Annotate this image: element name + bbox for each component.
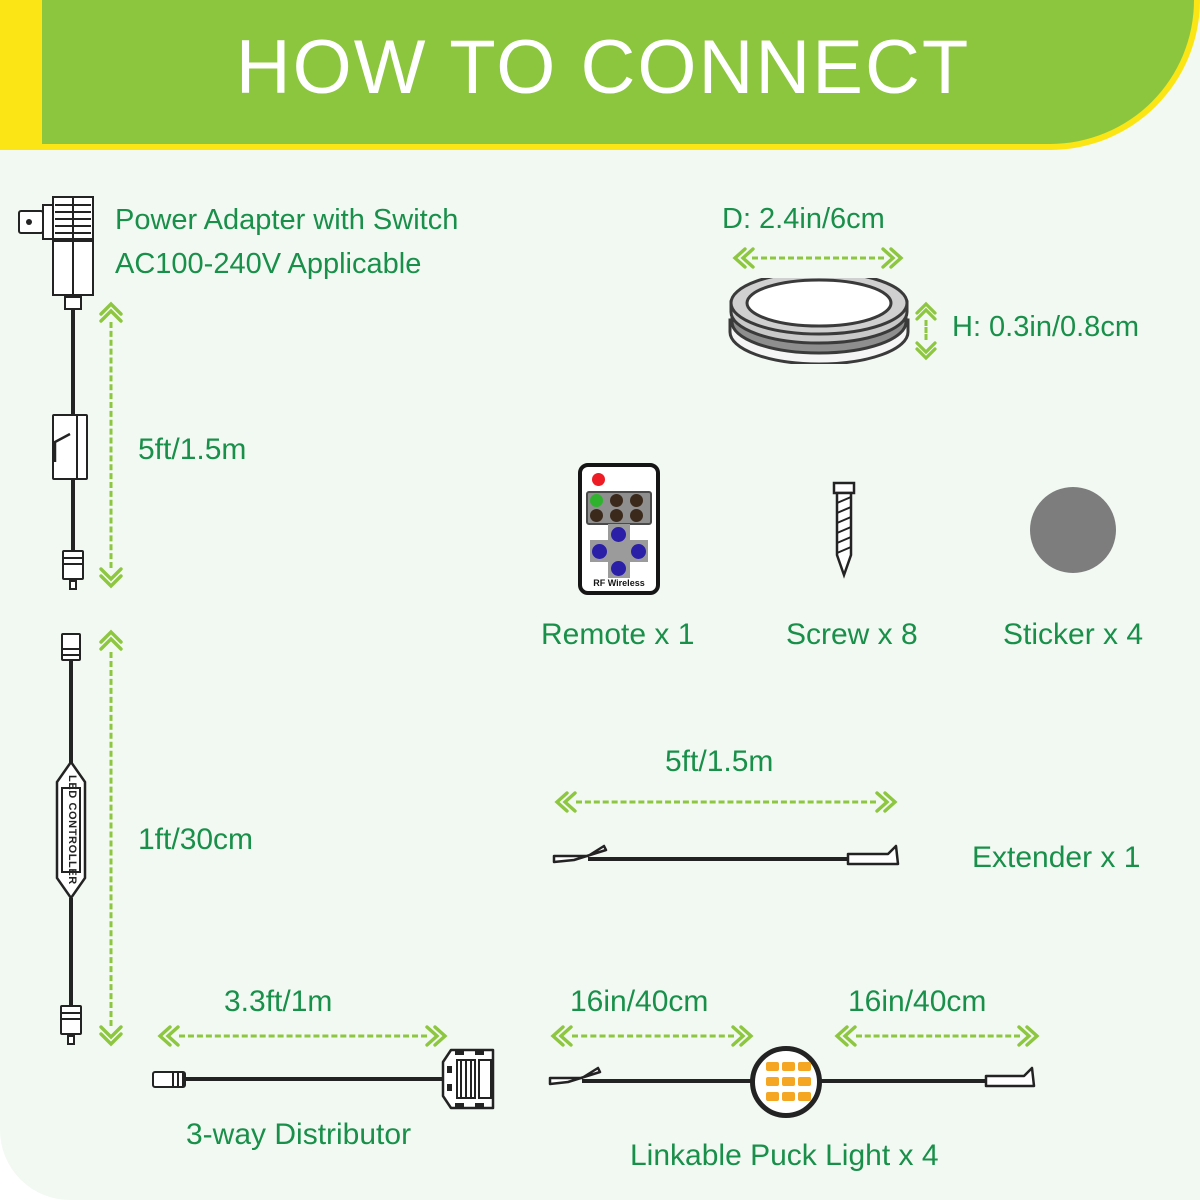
- extender-label: Extender x 1: [972, 838, 1140, 879]
- puck-led-r3c3: [798, 1092, 811, 1101]
- three-way-distributor-block: [441, 1046, 499, 1112]
- puck-right-dimension: [832, 1022, 1042, 1050]
- puck-light-label: Linkable Puck Light x 4: [630, 1136, 939, 1177]
- plug-rib-1: [172, 1072, 174, 1087]
- power-adapter-title-line2: AC100-240V Applicable: [115, 245, 421, 284]
- remote-button-4: [590, 509, 603, 522]
- led-controller-body-text: LED CONTROLLER: [66, 775, 78, 885]
- puck-diameter-label: D: 2.4in/6cm: [722, 200, 885, 239]
- puck-led-r1c1: [766, 1062, 779, 1071]
- dc-plug-tip: [69, 580, 77, 590]
- remote-button-2: [610, 494, 623, 507]
- inline-switch-seam: [76, 415, 78, 479]
- remote-power-led-icon: [592, 473, 605, 486]
- puck-led-r2c3: [798, 1077, 811, 1086]
- led-controller-plug-tip: [67, 1035, 75, 1045]
- remote-button-1: [590, 494, 603, 507]
- dc-barrel-plug: [62, 550, 84, 580]
- screw-icon: [822, 480, 866, 580]
- led-controller-bottom-plug: [60, 1005, 82, 1035]
- puck-led-r3c1: [766, 1092, 779, 1101]
- remote-rf-wireless-text: RF Wireless: [578, 578, 660, 588]
- puck-left-dimension: [548, 1022, 756, 1050]
- remote-dpad-right: [631, 544, 646, 559]
- remote-dpad-down: [611, 561, 626, 576]
- power-adapter-strain-relief: [64, 296, 82, 310]
- led-controller-cable-bottom: [69, 898, 73, 1010]
- puck-led-r1c3: [798, 1062, 811, 1071]
- remote-button-5: [610, 509, 623, 522]
- how-to-connect-diagram: HOW TO CONNECT: [0, 0, 1200, 1200]
- puck-led-r1c2: [782, 1062, 795, 1071]
- remote-button-6: [630, 509, 643, 522]
- led-controller-top-connector: [61, 633, 81, 661]
- power-adapter-title-line1: Power Adapter with Switch: [115, 201, 458, 240]
- distributor-length-label: 3.3ft/1m: [224, 982, 332, 1023]
- distributor-input-plug: [152, 1071, 186, 1088]
- led-controller-length-label: 1ft/30cm: [138, 820, 253, 861]
- prong-dot: [26, 219, 32, 225]
- remote-dpad-up: [611, 527, 626, 542]
- power-cable-dimension: [96, 300, 126, 590]
- puck-light-3d-illustration: [726, 278, 912, 364]
- power-cable-length-label: 5ft/1.5m: [138, 430, 246, 471]
- distributor-label: 3-way Distributor: [186, 1115, 411, 1156]
- screw-label: Screw x 8: [786, 615, 918, 656]
- extender-cable-illustration: [548, 838, 904, 874]
- plug-rib-2: [177, 1072, 179, 1087]
- puck-led-r2c1: [766, 1077, 779, 1086]
- sticker-label: Sticker x 4: [1003, 615, 1143, 656]
- puck-led-r3c2: [782, 1092, 795, 1101]
- sticker-icon: [1030, 487, 1116, 573]
- extender-length-label: 5ft/1.5m: [665, 742, 773, 783]
- puck-height-dimension: [912, 300, 940, 362]
- adapter-body-seam: [72, 241, 74, 295]
- led-controller-cable-top: [69, 661, 73, 765]
- header-banner: HOW TO CONNECT: [0, 0, 1200, 150]
- remote-dpad-left: [592, 544, 607, 559]
- puck-left-cable: [546, 1060, 766, 1096]
- puck-led-r2c2: [782, 1077, 795, 1086]
- distributor-dimension: [155, 1022, 450, 1050]
- page-title: HOW TO CONNECT: [236, 30, 1001, 114]
- vent-divider: [72, 197, 74, 239]
- puck-left-length-label: 16in/40cm: [570, 982, 708, 1023]
- switch-rocker-icon: [52, 432, 74, 464]
- distributor-cable: [186, 1077, 444, 1081]
- power-cable-lower: [71, 480, 75, 552]
- puck-right-length-label: 16in/40cm: [848, 982, 986, 1023]
- plug-rib-3: [182, 1072, 184, 1087]
- led-controller-dimension: [96, 628, 126, 1048]
- puck-height-label: H: 0.3in/0.8cm: [952, 308, 1139, 347]
- puck-right-cable: [808, 1060, 1038, 1096]
- power-cable-upper: [71, 310, 75, 418]
- remote-button-3: [630, 494, 643, 507]
- extender-dimension: [552, 788, 900, 816]
- banner-green-panel: HOW TO CONNECT: [42, 0, 1194, 144]
- remote-label: Remote x 1: [541, 615, 694, 656]
- puck-diameter-dimension: [730, 244, 906, 272]
